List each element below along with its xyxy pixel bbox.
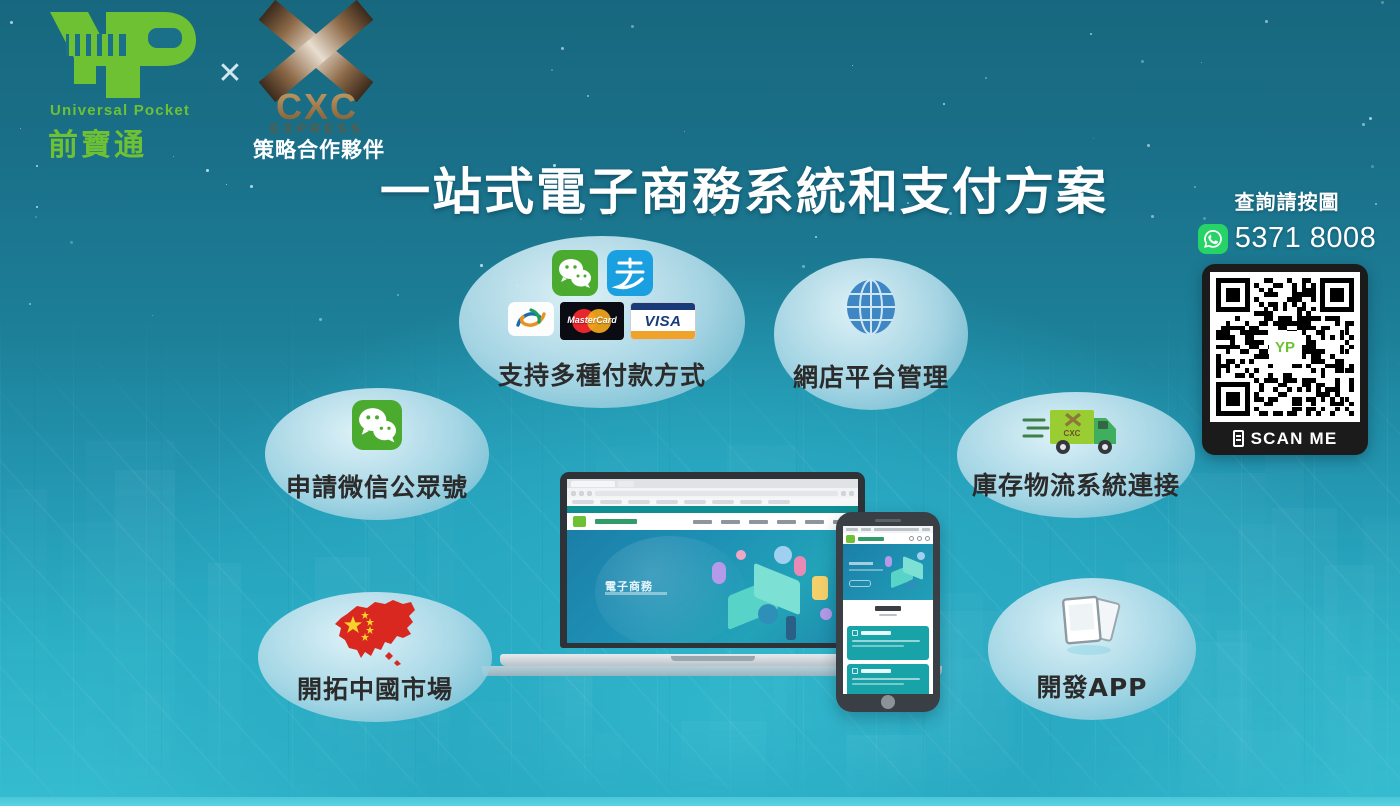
- phone-nav-icon[interactable]: [917, 536, 922, 541]
- china-map-icon: [258, 594, 492, 670]
- wechat-pay-icon: [552, 250, 598, 296]
- feature-label: 開拓中國市場: [297, 670, 453, 706]
- yp-name-cn: 前寶通: [48, 120, 228, 164]
- browser-newtab: [618, 481, 634, 487]
- feature-bubble-payment[interactable]: MasterCard VISA 支持多種付款方式: [459, 236, 745, 408]
- feature-label: 網店平台管理: [793, 358, 949, 394]
- logo-lockup: Universal Pocket 前寶通 ✕ CXC EXPRESS 策略合作夥…: [34, 6, 434, 166]
- phone-hero-illustration: [883, 550, 929, 594]
- whatsapp-number: 5371 8008: [1235, 222, 1377, 255]
- globe-icon: [774, 276, 968, 338]
- qr-logo-text: YP: [1275, 339, 1295, 356]
- browser-bookmarks: [567, 498, 858, 506]
- feature-label: 申請微信公眾號: [286, 468, 468, 504]
- feature-label: 開發APP: [1037, 668, 1148, 704]
- page-title: 一站式電子商務系統和支付方案: [380, 152, 1040, 224]
- phone-feature-card[interactable]: [847, 664, 929, 694]
- mastercard-icon: MasterCard: [560, 302, 624, 340]
- phone-hero-button[interactable]: [849, 580, 871, 587]
- feature-bubble-wechat[interactable]: 申請微信公眾號: [265, 388, 489, 520]
- feature-bubble-logistics[interactable]: CXC 庫存物流系統連接: [957, 392, 1195, 518]
- scan-me-label: SCAN ME: [1251, 429, 1338, 449]
- yp-name-en: Universal Pocket: [50, 102, 220, 119]
- site-nav-item[interactable]: [693, 520, 712, 524]
- feature-label: 庫存物流系統連接: [972, 466, 1180, 502]
- device-mockups: 電子商務: [498, 462, 958, 722]
- phone-feature-card[interactable]: [847, 626, 929, 660]
- laptop-trackpad-notch: [671, 656, 755, 661]
- phone-home-button[interactable]: [881, 695, 895, 709]
- phone-section-title: [843, 600, 933, 622]
- browser-tab: [571, 481, 615, 487]
- contact-panel: 查詢請按圖 5371 8008 YP SCAN ME: [1192, 186, 1382, 455]
- site-nav-item[interactable]: [805, 520, 824, 524]
- qr-code-image[interactable]: YP: [1210, 272, 1360, 422]
- yp-mark-icon: [44, 6, 206, 104]
- feature-bubble-china[interactable]: 開拓中國市場: [258, 592, 492, 722]
- laptop-mockup: 電子商務: [560, 472, 865, 648]
- site-topbar: [567, 506, 858, 513]
- promo-banner: Universal Pocket 前寶通 ✕ CXC EXPRESS 策略合作夥…: [0, 0, 1400, 806]
- cxc-x-mark-icon: [246, 8, 386, 94]
- site-logo-icon: [573, 516, 586, 527]
- payment-methods-icon: MasterCard VISA: [459, 250, 745, 340]
- phone-site-logo-text: [858, 537, 884, 541]
- browser-urlbar: [567, 488, 858, 498]
- laptop-lid: 電子商務: [560, 472, 865, 648]
- wechat-icon: [265, 400, 489, 450]
- site-nav-item[interactable]: [749, 520, 768, 524]
- browser-tabbar: [567, 479, 858, 488]
- phone-speaker: [875, 519, 901, 522]
- yp-logo: Universal Pocket 前寶通: [44, 6, 224, 166]
- site-logo-text: [595, 519, 637, 524]
- site-navbar: [567, 513, 858, 530]
- unionpay-icon: [508, 302, 554, 336]
- qr-card[interactable]: YP SCAN ME: [1202, 264, 1368, 455]
- phone-statusbar: [843, 526, 933, 533]
- scan-phone-icon: [1233, 430, 1244, 447]
- phone-nav-icon[interactable]: [925, 536, 930, 541]
- phone-navbar: [843, 533, 933, 544]
- phone-site-logo-icon: [846, 535, 855, 543]
- phone-nav-icon[interactable]: [909, 536, 914, 541]
- whatsapp-icon: [1198, 224, 1228, 254]
- svg-text:CXC: CXC: [1064, 429, 1081, 438]
- qr-embedded-logo: YP: [1269, 331, 1301, 363]
- feature-bubble-app[interactable]: 開發APP: [988, 578, 1196, 720]
- laptop-screen: 電子商務: [567, 479, 858, 643]
- cxc-logo: CXC EXPRESS 策略合作夥伴: [234, 8, 404, 168]
- whatsapp-row[interactable]: 5371 8008: [1192, 222, 1382, 255]
- visa-icon: VISA: [630, 302, 696, 340]
- background-bottom-bar: [0, 797, 1400, 806]
- site-hero: 電子商務: [567, 530, 858, 643]
- feature-bubble-store[interactable]: 網店平台管理: [774, 258, 968, 410]
- contact-caption: 查詢請按圖: [1192, 186, 1382, 215]
- feature-label: 支持多種付款方式: [498, 356, 706, 392]
- devices-icon: [988, 592, 1196, 662]
- hero-subtitle-bar: [605, 592, 667, 595]
- alipay-icon: [607, 250, 653, 296]
- scan-me-row: SCAN ME: [1210, 422, 1360, 455]
- delivery-truck-icon: CXC: [957, 400, 1195, 460]
- phone-mockup: [836, 512, 940, 712]
- phone-screen: [843, 526, 933, 694]
- hero-illustration: [702, 542, 842, 643]
- phone-hero: [843, 544, 933, 600]
- site-nav-item[interactable]: [721, 520, 740, 524]
- site-nav-item[interactable]: [777, 520, 796, 524]
